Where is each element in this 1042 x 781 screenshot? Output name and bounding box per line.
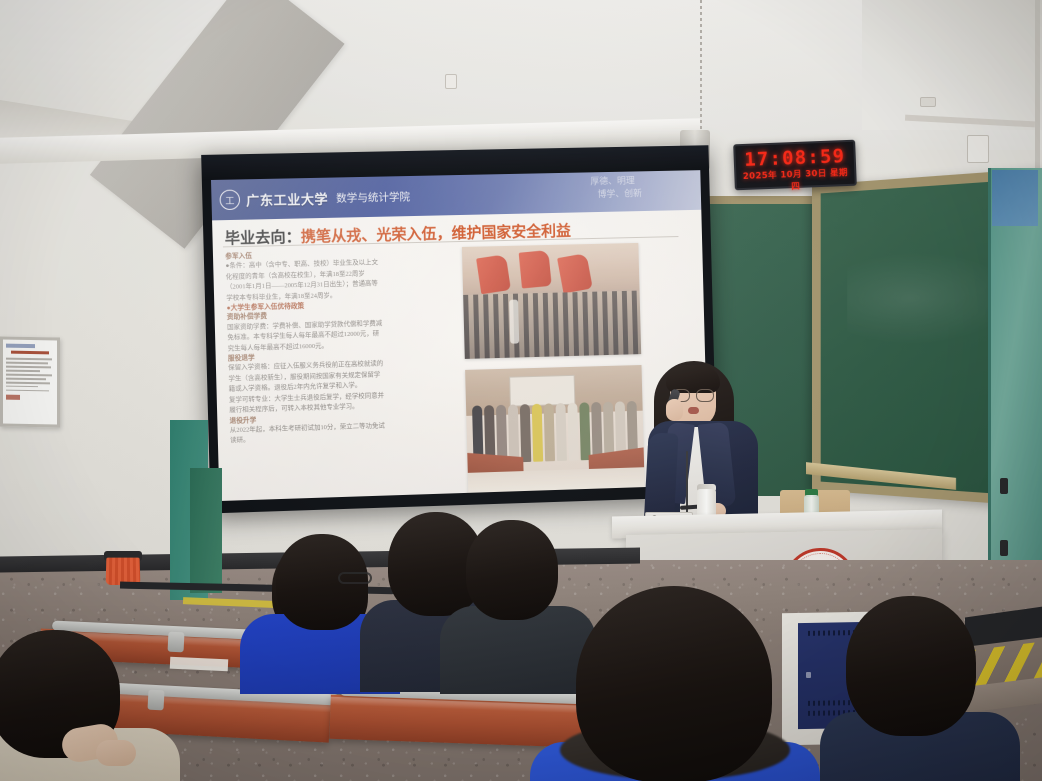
- framed-notice: [0, 336, 60, 427]
- student-glasses: [338, 572, 372, 584]
- led-wall-clock: 17:08:59 2025年 10月 30日 星期四: [733, 140, 857, 191]
- slide-motto: 厚德、明理 博学、创新: [583, 174, 642, 201]
- parade-formation: [463, 291, 641, 359]
- motto-line-1: 厚德、明理: [583, 174, 642, 188]
- presenter-hand: [666, 399, 683, 421]
- presenter-mouth: [688, 407, 699, 414]
- notice-header-bar: [6, 344, 35, 349]
- rail-clip: [147, 690, 164, 711]
- screen-pull-chain[interactable]: [700, 0, 702, 140]
- clock-date: 2025年 10月 30日 星期四: [741, 167, 850, 195]
- door-left-pillar: [190, 468, 222, 593]
- slide-body-text: 参军入伍 ●条件：高中（含中专、职高、技校）毕业生及以上文 化程度的青年（含高校…: [225, 247, 457, 447]
- slide-school-name: 数学与统计学院: [336, 189, 410, 206]
- door-hinge: [1000, 478, 1008, 494]
- slide-banner: 工 广东工业大学 数学与统计学院 厚德、明理 博学、创新: [211, 170, 701, 220]
- flag-icon: [519, 250, 552, 289]
- slide-university-name: 广东工业大学: [246, 188, 328, 209]
- student-head-foreground: [576, 586, 772, 781]
- notice-title-bar: [11, 351, 49, 355]
- wall-outlet[interactable]: [967, 135, 989, 163]
- cabinet-latch[interactable]: [806, 672, 811, 678]
- presentation-slide: 工 广东工业大学 数学与统计学院 厚德、明理 博学、创新 毕业去向：携笔从戎、光…: [211, 170, 708, 501]
- wall-fixture-small: [445, 74, 457, 89]
- wall-conduit-vertical: [1035, 0, 1040, 180]
- rail-clip: [168, 632, 185, 653]
- lecture-hall-scene: 工 广东工业大学 数学与统计学院 厚德、明理 博学、创新 毕业去向：携笔从戎、光…: [0, 0, 1042, 781]
- ceiling-shadow-right: [862, 0, 1042, 130]
- university-seal-icon: 工: [219, 190, 240, 211]
- student-hand: [96, 740, 136, 766]
- flag-icon: [476, 254, 511, 294]
- slide-title: 毕业去向：携笔从戎、光荣入伍，维护国家安全利益: [224, 220, 571, 249]
- desk-papers: [170, 657, 228, 672]
- notice-seal: [6, 395, 20, 400]
- wall-bracket: [920, 97, 936, 107]
- group-photo-screen: [509, 375, 575, 407]
- microphone-cable: [686, 451, 688, 513]
- student-head: [846, 596, 976, 736]
- student-group-photo: [465, 365, 645, 495]
- motto-line-2: 博学、创新: [597, 187, 642, 201]
- door-hinge: [1000, 540, 1008, 556]
- parade-leader: [509, 300, 519, 344]
- military-parade-photo: [462, 243, 641, 359]
- student-head: [466, 520, 558, 620]
- door-glass-pane: [992, 170, 1038, 226]
- group-photo-floor: [468, 467, 645, 495]
